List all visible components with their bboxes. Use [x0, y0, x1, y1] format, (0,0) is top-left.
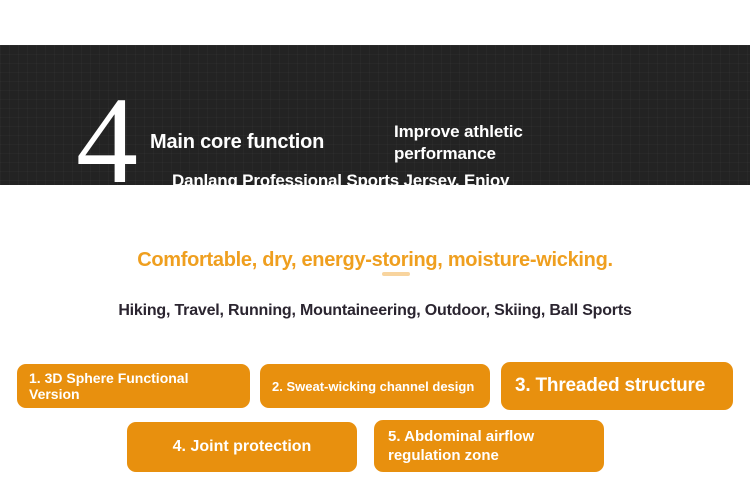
product-feature-banner: 4 Main core function Improve athletic pe…	[0, 0, 750, 494]
feature-pill-1[interactable]: 1. 3D Sphere Functional Version	[17, 364, 250, 408]
primary-headline: Comfortable, dry, energy-storing, moistu…	[0, 249, 750, 272]
feature-pill-1-label: 1. 3D Sphere Functional Version	[29, 370, 238, 402]
feature-pill-5[interactable]: 5. Abdominal airflow regulation zone	[374, 420, 604, 472]
hero-numeral: 4	[76, 91, 136, 185]
feature-pill-3-label: 3. Threaded structure	[515, 375, 719, 397]
hero-main-title: Main core function	[150, 131, 324, 154]
hero-content: 4 Main core function Improve athletic pe…	[0, 45, 750, 185]
hero-side-title: Improve athletic performance	[394, 121, 584, 165]
hero-sub-title: Danlang Professional Sports Jersey, Enjo…	[172, 169, 602, 185]
feature-pill-4-label: 4. Joint protection	[141, 438, 343, 456]
feature-pill-2-label: 2. Sweat-wicking channel design	[272, 379, 478, 394]
feature-pill-4[interactable]: 4. Joint protection	[127, 422, 357, 472]
feature-pill-2[interactable]: 2. Sweat-wicking channel design	[260, 364, 490, 408]
feature-pill-5-label: 5. Abdominal airflow regulation zone	[388, 427, 590, 465]
hero-band: 4 Main core function Improve athletic pe…	[0, 45, 750, 185]
activities-subheadline: Hiking, Travel, Running, Mountaineering,…	[0, 302, 750, 320]
headline-underline-artifact	[382, 272, 410, 276]
feature-pill-3[interactable]: 3. Threaded structure	[501, 362, 733, 410]
